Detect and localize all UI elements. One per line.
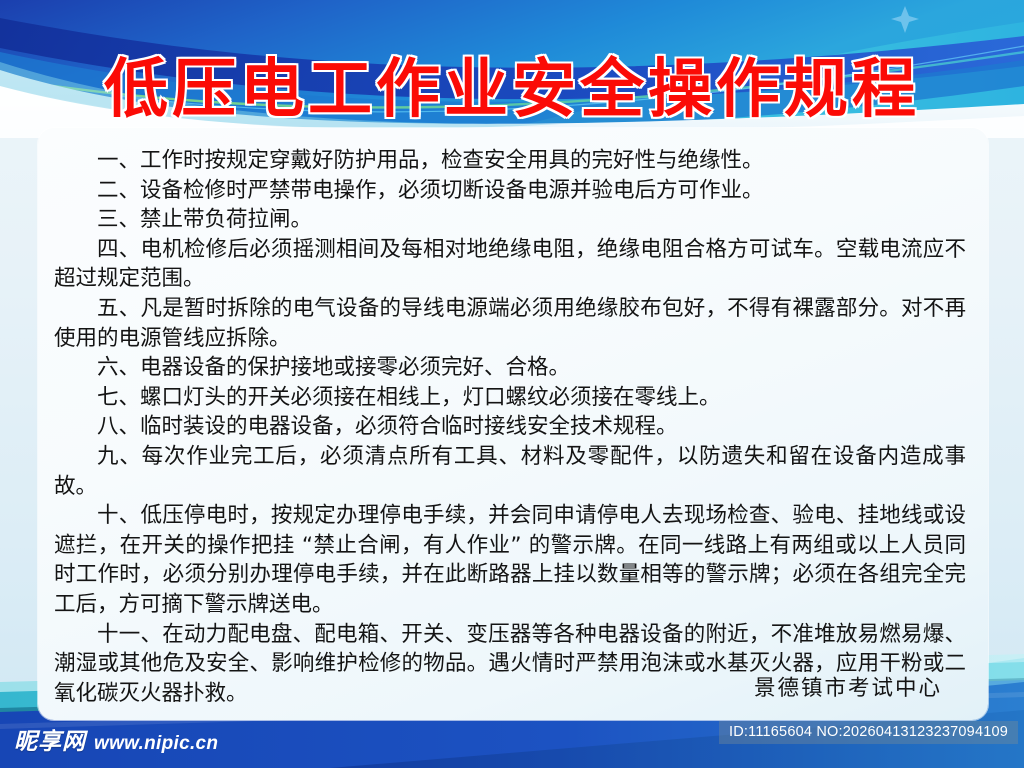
clause-6: 六、电器设备的保护接地或接零必须完好、合格。 [54,353,966,383]
watermark-id: ID:11165604 NO:20260413123237094109 [719,721,1018,744]
clause-10: 十、低压停电时，按规定办理停电手续，并会同申请停电人去现场检查、验电、挂地线或设… [54,501,966,619]
clause-7: 七、螺口灯头的开关必须接在相线上，灯口螺纹必须接在零线上。 [54,383,966,413]
watermark-brand: 昵享网 [14,722,86,756]
clause-2: 二、设备检修时严禁带电操作，必须切断设备电源并验电后方可作业。 [54,176,966,206]
clause-5: 五、凡是暂时拆除的电气设备的导线电源端必须用绝缘胶布包好，不得有裸露部分。对不再… [54,294,966,353]
page-title: 低压电工作业安全操作规程 [0,56,1024,124]
poster-root: 低压电工作业安全操作规程 [0,0,1024,768]
page-title-text: 低压电工作业安全操作规程 [104,56,920,124]
watermark-url: www.nipic.cn [94,733,218,755]
regulation-text: 一、工作时按规定穿戴好防护用品，检查安全用具的完好性与绝缘性。 二、设备检修时严… [54,146,966,708]
content-panel: 一、工作时按规定穿戴好防护用品，检查安全用具的完好性与绝缘性。 二、设备检修时严… [38,128,988,720]
clause-3: 三、禁止带负荷拉闸。 [54,205,966,235]
watermark-logo: 昵享网 www.nipic.cn [14,722,218,756]
issuer-signature: 景德镇市考试中心 [754,671,942,702]
clause-1: 一、工作时按规定穿戴好防护用品，检查安全用具的完好性与绝缘性。 [54,146,966,176]
clause-8: 八、临时装设的电器设备，必须符合临时接线安全技术规程。 [54,412,966,442]
clause-4: 四、电机检修后必须摇测相间及每相对地绝缘电阻，绝缘电阻合格方可试车。空载电流应不… [54,235,966,294]
clause-9: 九、每次作业完工后，必须清点所有工具、材料及零配件，以防遗失和留在设备内造成事故… [54,442,966,501]
